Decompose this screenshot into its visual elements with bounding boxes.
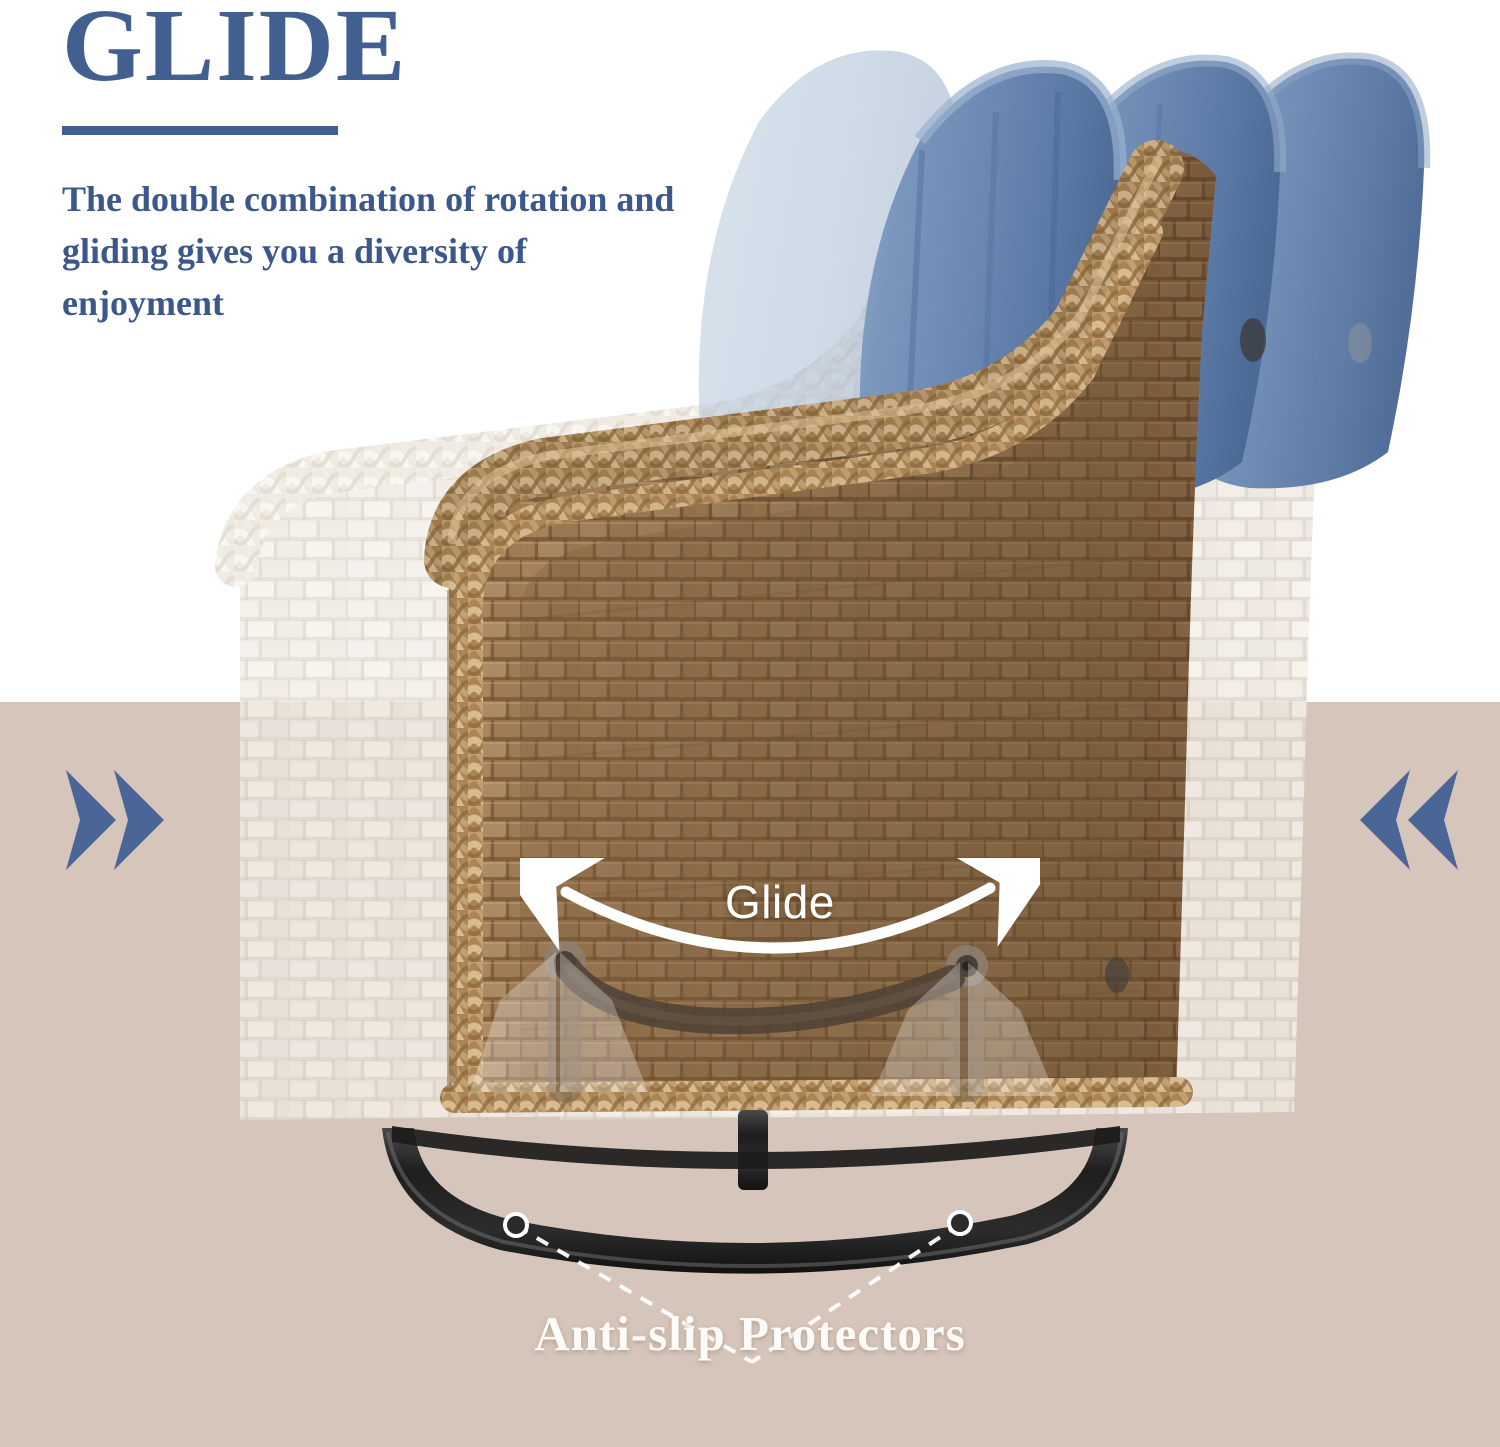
page-subtitle: The double combination of rotation and g… xyxy=(62,173,682,329)
anti-slip-marker-right xyxy=(947,1210,973,1236)
anti-slip-marker-left xyxy=(503,1212,529,1238)
title-divider-rule xyxy=(62,126,338,135)
frame-bolt-hole xyxy=(1240,318,1266,362)
swivel-base-ring xyxy=(382,1110,1128,1274)
subtitle-line-1: The double combination of rotation and xyxy=(62,173,682,225)
double-chevron-right-icon xyxy=(58,760,168,880)
subtitle-line-2: gliding gives you a diversity of enjoyme… xyxy=(62,225,682,329)
page-title: GLIDE xyxy=(62,0,822,98)
headline-block: GLIDE The double combination of rotation… xyxy=(62,0,822,329)
product-feature-image: Glide GLIDE The double combination of ro… xyxy=(0,0,1500,1447)
glide-arc-label: Glide xyxy=(725,875,835,929)
anti-slip-caption: Anti-slip Protectors xyxy=(0,1305,1500,1362)
double-chevron-left-icon xyxy=(1356,760,1466,880)
